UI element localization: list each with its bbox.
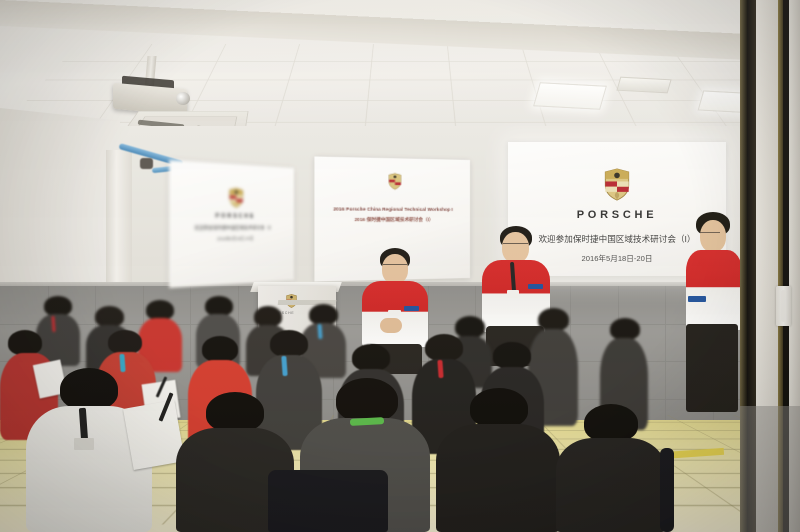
name-badge (74, 438, 94, 450)
screen-mid-sub-wordmark (314, 193, 470, 194)
audience-member-foreground (436, 388, 560, 532)
porsche-crest-icon (604, 168, 630, 201)
linear-diffuser (616, 77, 671, 94)
sleeve-badge (528, 284, 543, 289)
sleeve-badge (688, 296, 706, 302)
chair (660, 448, 674, 532)
audience-member-foreground (556, 404, 666, 532)
glasses-icon (383, 264, 407, 270)
screen-mid-title-cn: 2016 保时捷中国区域技术研讨会（I） (314, 217, 470, 223)
staff-doorway (686, 212, 748, 412)
porsche-crest-icon (388, 173, 401, 191)
sleeve-badge (404, 306, 419, 311)
photo-scene: PORSCHE 欢迎参加保时捷中国区域技术研讨会（I） 2016年5月18日-2… (0, 0, 800, 532)
name-badge (507, 290, 519, 298)
door-hinge-pin (781, 290, 786, 322)
name-badge (388, 310, 401, 316)
porsche-crest-icon (228, 187, 243, 208)
screen-mid-title-en: 2016 Porsche China Regional Technical Wo… (314, 206, 470, 212)
grid-line (7, 122, 800, 123)
grid-line (62, 61, 758, 62)
pipe-fitting (140, 158, 153, 169)
glasses-icon (503, 243, 528, 249)
screen-left-welcome-line: 欢迎参加保时捷中国区域技术研讨会（I） (169, 225, 294, 232)
door-lower-shadow (740, 406, 800, 532)
glasses-icon (700, 232, 720, 237)
projector-lens (176, 92, 190, 105)
screen-left-wordmark: PORSCHE (169, 213, 294, 220)
left-projection-screen: PORSCHE 欢迎参加保时捷中国区域技术研讨会（I） 2016年5月18日-2… (169, 160, 294, 288)
screen-left-date-line: 2016年5月18日-20日 (169, 235, 294, 243)
recessed-light-panel (533, 82, 607, 110)
chair (268, 470, 388, 532)
